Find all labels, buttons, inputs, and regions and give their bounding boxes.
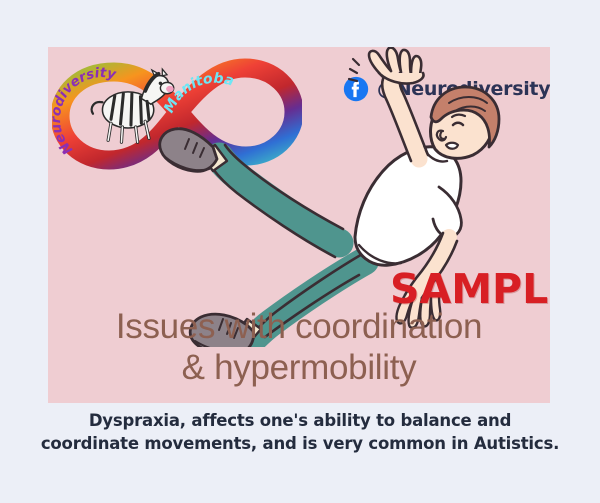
page-title: Issues with coordination & hypermobility — [48, 307, 550, 389]
caption-text: Dyspraxia, affects one's ability to bala… — [18, 409, 582, 456]
caption-line-1: Dyspraxia, affects one's ability to bala… — [89, 411, 511, 430]
headline-line-1: Issues with coordination — [116, 307, 482, 346]
pink-content-card: Neurodiversity Manitoba @NeurodiversityM… — [48, 47, 550, 403]
caption-line-2: coordinate movements, and is very common… — [18, 432, 582, 455]
headline-line-2: & hypermobility — [48, 348, 550, 389]
poster-root: Neurodiversity Manitoba @NeurodiversityM… — [0, 0, 600, 503]
sample-watermark: SAMPLE — [390, 269, 550, 310]
